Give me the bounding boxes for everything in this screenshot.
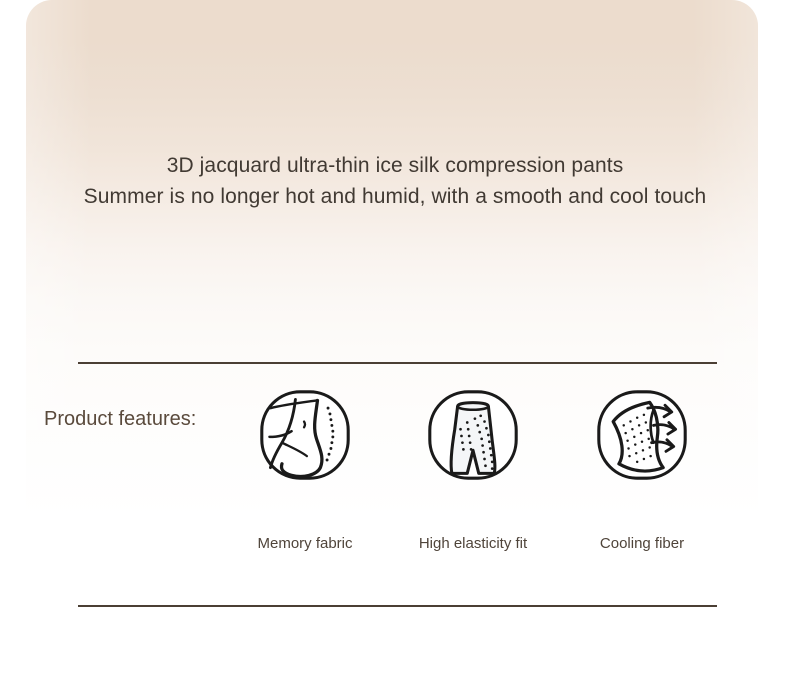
feature-caption: High elasticity fit — [398, 535, 548, 552]
divider-bottom — [78, 605, 717, 607]
banner-background-panel — [26, 0, 758, 691]
feature-item: High elasticity fit — [398, 387, 548, 552]
product-feature-banner: 3D jacquard ultra-thin ice silk compress… — [0, 0, 790, 691]
feature-item: Memory fabric — [230, 387, 380, 552]
headline-line-1: 3D jacquard ultra-thin ice silk compress… — [0, 150, 790, 181]
feature-item: Cooling fiber — [567, 387, 717, 552]
feature-caption: Memory fabric — [230, 535, 380, 552]
high-elasticity-fit-icon — [425, 387, 521, 483]
cooling-fiber-icon — [594, 387, 690, 483]
memory-fabric-icon — [257, 387, 353, 483]
headline: 3D jacquard ultra-thin ice silk compress… — [0, 150, 790, 212]
headline-line-2: Summer is no longer hot and humid, with … — [0, 181, 790, 212]
feature-caption: Cooling fiber — [567, 535, 717, 552]
product-features-label: Product features: — [44, 408, 196, 431]
divider-top — [78, 362, 717, 364]
